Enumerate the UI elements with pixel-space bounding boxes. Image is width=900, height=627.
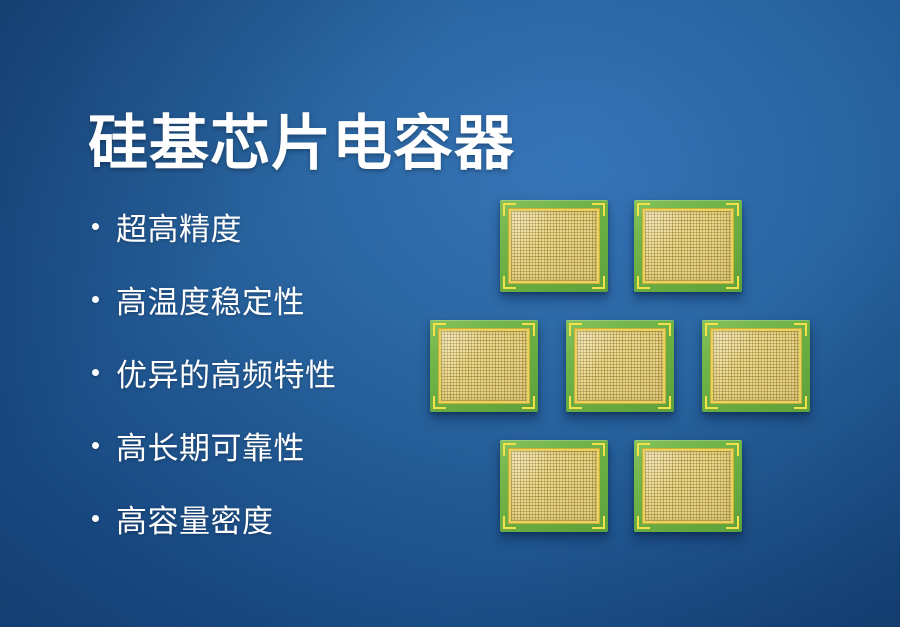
feature-bullet-list: 超高精度 高温度稳定性 优异的高频特性 高长期可靠性 高容量密度	[92, 190, 422, 555]
chip-die-grid	[711, 329, 801, 403]
chip-die-grid	[439, 329, 529, 403]
bullet-dot-icon	[92, 369, 99, 376]
bullet-dot-icon	[92, 442, 99, 449]
chip-die-grid	[509, 449, 599, 523]
list-item: 超高精度	[92, 190, 422, 263]
chip-row2-col2	[566, 320, 674, 412]
list-item-label: 高容量密度	[116, 496, 274, 541]
list-item-label: 高长期可靠性	[116, 423, 305, 468]
chip-row3-col2	[634, 440, 742, 532]
chip-die-grid	[509, 209, 599, 283]
chip-row1-col2	[634, 200, 742, 292]
list-item: 高长期可靠性	[92, 409, 422, 482]
list-item: 高容量密度	[92, 482, 422, 555]
chip-row2-col1	[430, 320, 538, 412]
slide-canvas: 硅基芯片电容器 超高精度 高温度稳定性 优异的高频特性 高长期可靠性 高容量密度	[0, 0, 900, 627]
list-item: 高温度稳定性	[92, 263, 422, 336]
chip-die-grid	[575, 329, 665, 403]
bullet-dot-icon	[92, 223, 99, 230]
chip-die-grid	[643, 449, 733, 523]
chip-row2-col3	[702, 320, 810, 412]
list-item-label: 超高精度	[116, 204, 242, 249]
bullet-dot-icon	[92, 296, 99, 303]
chip-row1-col1	[500, 200, 608, 292]
list-item-label: 优异的高频特性	[116, 350, 337, 395]
bullet-dot-icon	[92, 515, 99, 522]
list-item: 优异的高频特性	[92, 336, 422, 409]
chip-die-grid	[643, 209, 733, 283]
list-item-label: 高温度稳定性	[116, 277, 305, 322]
page-title: 硅基芯片电容器	[88, 112, 515, 177]
chip-row3-col1	[500, 440, 608, 532]
